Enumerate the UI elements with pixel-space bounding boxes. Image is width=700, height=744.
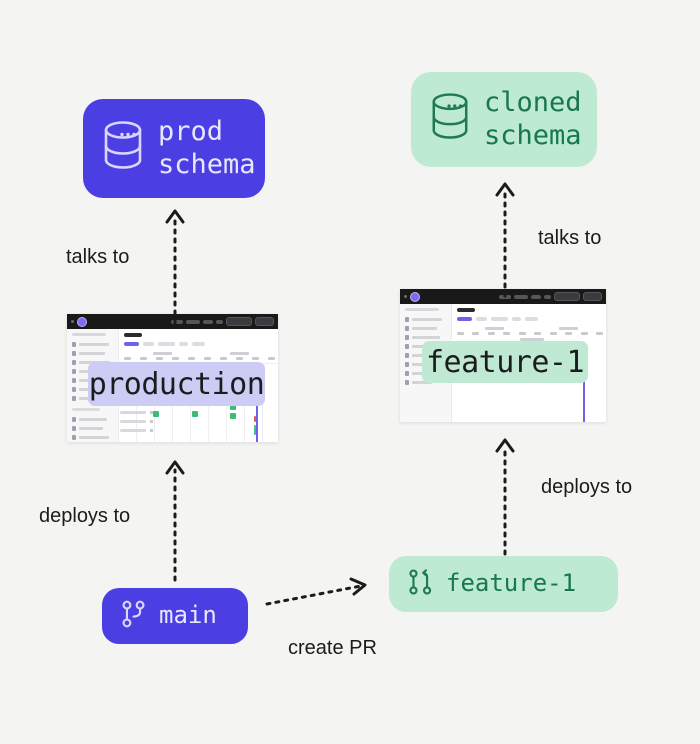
bottom-list — [119, 411, 278, 438]
node-feature-branch[interactable]: feature-1 — [389, 556, 618, 612]
database-icon — [101, 120, 145, 177]
list-item — [119, 420, 278, 423]
sidebar-header — [72, 333, 106, 336]
branch-icon — [72, 387, 76, 392]
panel-title — [457, 308, 475, 312]
topbar-nav-item — [203, 320, 213, 324]
branch-icon — [72, 426, 76, 431]
panel-tab — [457, 317, 472, 321]
edge-label-deploys-to-feature: deploys to — [541, 476, 632, 499]
branch-icon — [405, 362, 409, 367]
sidebar-item — [405, 335, 447, 340]
arrow-production-to-prod-schema — [160, 205, 190, 325]
branch-icon — [72, 378, 76, 383]
sidebar-item — [405, 317, 447, 322]
branch-icon — [405, 380, 409, 385]
branch-icon — [405, 344, 409, 349]
panel-tab — [179, 342, 188, 346]
chevron-icon — [150, 411, 153, 414]
branch-icon — [72, 369, 76, 374]
branch-icon — [72, 342, 76, 347]
branch-icon — [405, 317, 409, 322]
topbar-env-button — [226, 317, 252, 326]
sidebar-header — [405, 308, 439, 311]
branch-icon — [72, 360, 76, 365]
production-environment-badge: production — [88, 362, 265, 406]
topbar-menu-icon — [71, 320, 74, 323]
timeline-group-labels — [124, 352, 278, 355]
topbar-env-button — [554, 292, 580, 301]
chevron-icon — [150, 429, 153, 432]
node-main-branch[interactable]: main — [102, 588, 248, 644]
sidebar-item — [405, 326, 447, 331]
panel-tab — [476, 317, 487, 321]
feature-environment-badge: feature-1 — [422, 341, 588, 383]
list-item — [119, 411, 278, 414]
arrow-main-to-production — [160, 456, 190, 582]
node-feature-branch-label: feature-1 — [446, 569, 576, 598]
branch-icon — [72, 435, 76, 440]
node-main-branch-label: main — [159, 601, 217, 630]
panel-tab — [124, 342, 139, 346]
chevron-icon — [150, 420, 153, 423]
node-cloned-schema-label: cloned schema — [484, 87, 582, 153]
panel-title — [124, 333, 142, 337]
git-branch-icon — [120, 599, 147, 634]
panel-tab — [491, 317, 508, 321]
node-prod-schema[interactable]: prod schema — [83, 99, 265, 198]
diagram-canvas: prod schema cloned schema — [0, 0, 700, 744]
branch-icon — [72, 351, 76, 356]
panel-tabs — [124, 342, 278, 346]
edge-label-create-pr: create PR — [288, 637, 377, 660]
panel-tab — [192, 342, 205, 346]
edge-label-talks-to-feature: talks to — [538, 227, 601, 250]
pull-request-icon — [407, 567, 434, 602]
sidebar-item — [72, 351, 114, 356]
sidebar-item — [72, 342, 114, 347]
panel-tab — [158, 342, 175, 346]
topbar-nav-item — [544, 295, 551, 299]
sidebar-item — [72, 435, 114, 440]
topbar-action-button — [255, 317, 274, 326]
panel-tabs — [457, 317, 606, 321]
branch-icon — [405, 335, 409, 340]
topbar-action-button — [583, 292, 602, 301]
node-cloned-schema[interactable]: cloned schema — [411, 72, 597, 167]
arrow-create-pr — [265, 578, 377, 610]
arrow-feature-branch-to-feature-env — [490, 434, 520, 556]
topbar-nav-item — [216, 320, 223, 324]
branch-icon — [405, 371, 409, 376]
database-icon — [429, 92, 471, 147]
avatar — [77, 317, 87, 327]
edge-label-talks-to-production: talks to — [66, 246, 129, 269]
avatar — [410, 292, 420, 302]
sidebar-item — [72, 417, 114, 422]
timeline-ticks — [124, 357, 278, 360]
topbar-nav-item — [531, 295, 541, 299]
timeline-ticks — [457, 332, 606, 335]
panel-tab — [525, 317, 538, 321]
branch-icon — [72, 417, 76, 422]
list-item — [119, 429, 278, 432]
topbar-menu-icon — [404, 295, 407, 298]
panel-tab — [512, 317, 521, 321]
node-prod-schema-label: prod schema — [158, 116, 256, 182]
arrow-feature-to-cloned-schema — [490, 178, 520, 298]
branch-icon — [72, 396, 76, 401]
panel-tab — [143, 342, 154, 346]
timeline-group-labels — [457, 327, 606, 330]
edge-label-deploys-to-production: deploys to — [39, 505, 130, 528]
sidebar-item — [72, 426, 114, 431]
sidebar-divider — [72, 408, 100, 411]
branch-icon — [405, 326, 409, 331]
branch-icon — [405, 353, 409, 358]
